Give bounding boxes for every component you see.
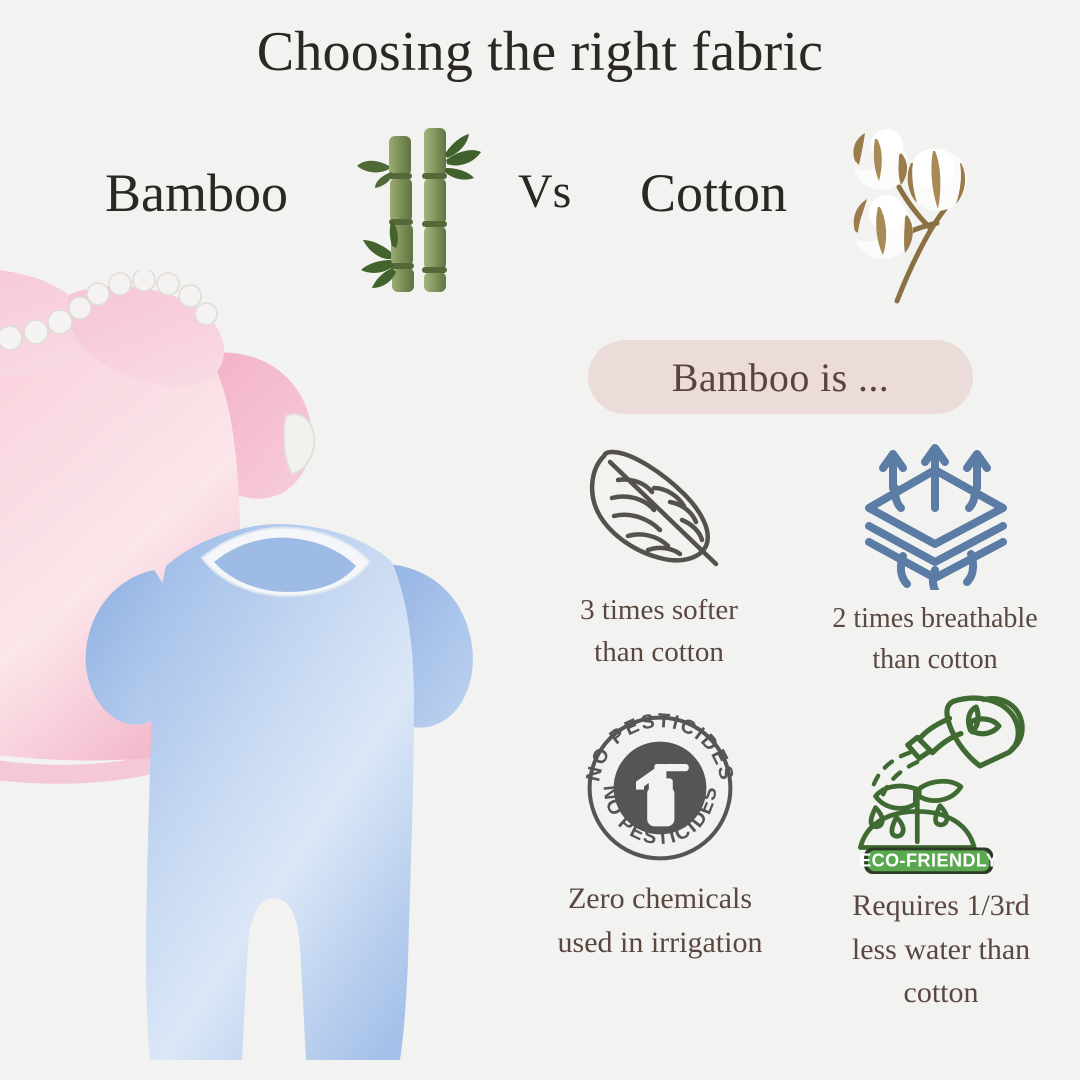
comparison-row: Bamboo [0, 140, 1080, 270]
feature-less-water: ECO-FRIENDLY Requires 1/3rd less water t… [802, 690, 1080, 1015]
page-title: Choosing the right fabric [0, 24, 1080, 80]
feature-softer-line1: 3 times softer [534, 589, 784, 631]
feature-softer-caption: 3 times softer than cotton [534, 589, 784, 673]
comparison-left-label: Bamboo [105, 162, 288, 224]
comparison-vs-label: Vs [518, 164, 571, 219]
feature-no-pesticides-line2: used in irrigation [530, 921, 790, 965]
no-pesticides-badge-icon: NO PESTICIDES NO PESTICIDES [530, 708, 790, 873]
eco-friendly-badge: ECO-FRIENDLY [859, 847, 998, 874]
cotton-branch-icon [825, 105, 1040, 325]
feature-less-water-line2: less water than [802, 928, 1080, 972]
feature-breathable-line2: than cotton [790, 640, 1080, 681]
feature-breathable-caption: 2 times breathable than cotton [790, 599, 1080, 680]
feature-softer-line2: than cotton [534, 631, 784, 673]
feature-breathable: 2 times breathable than cotton [790, 440, 1080, 680]
breathable-fabric-layers-icon [790, 440, 1080, 595]
feature-softer: 3 times softer than cotton [534, 440, 784, 673]
feature-less-water-caption: Requires 1/3rd less water than cotton [802, 884, 1080, 1015]
feature-no-pesticides-caption: Zero chemicals used in irrigation [530, 877, 790, 964]
baby-clothes-illustration [0, 270, 500, 1070]
feature-no-pesticides-line1: Zero chemicals [530, 877, 790, 921]
bamboo-is-banner: Bamboo is ... [588, 340, 973, 414]
feature-less-water-line3: cotton [802, 971, 1080, 1015]
comparison-right-label: Cotton [640, 162, 787, 224]
feature-less-water-line1: Requires 1/3rd [802, 884, 1080, 928]
eco-friendly-badge-label: ECO-FRIENDLY [859, 850, 998, 870]
infographic-canvas: Choosing the right fabric Bamboo [0, 0, 1080, 1080]
bamboo-is-banner-label: Bamboo is ... [672, 354, 889, 401]
feather-icon [534, 440, 784, 585]
watering-can-plant-icon: ECO-FRIENDLY [802, 690, 1080, 880]
feature-grid: 3 times softer than cotton [520, 440, 1080, 1060]
blue-baby-romper [86, 524, 473, 1060]
feature-no-pesticides: NO PESTICIDES NO PESTICIDES [530, 708, 790, 964]
feature-breathable-line1: 2 times breathable [790, 599, 1080, 640]
